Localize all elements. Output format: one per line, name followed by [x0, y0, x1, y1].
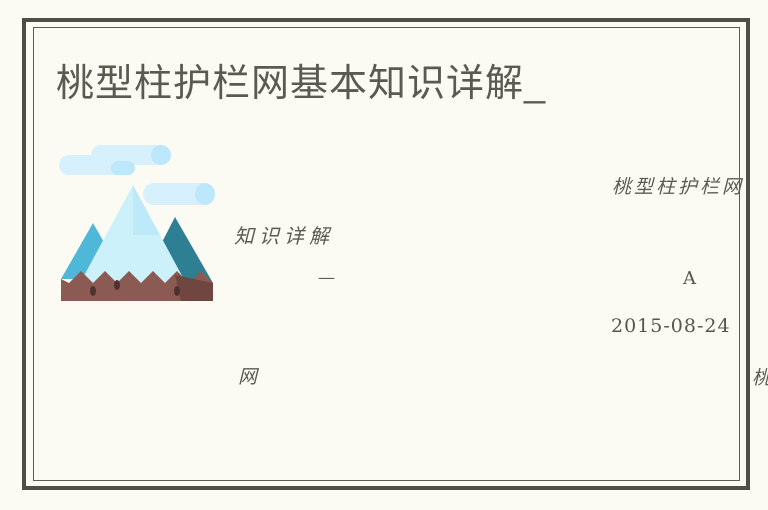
dash-annotation: — — [318, 268, 337, 288]
mountain-landscape-icon — [55, 143, 215, 303]
brand-annotation: 桃型柱护栏网 — [612, 172, 744, 199]
page-title: 桃型柱护栏网基本知识详解_ — [56, 58, 546, 110]
author-label: A — [683, 268, 696, 289]
article-cover-page: 桃型柱护栏网基本知识详解_ 知识详解 — 网 桃型柱护栏网 桃 — [0, 0, 768, 510]
subtitle-annotation: 知识详解 — [234, 220, 334, 249]
brand-tail-annotation: 桃 — [752, 363, 768, 390]
net-mark-annotation: 网 — [238, 362, 257, 389]
date-label: 2015-08-24 — [611, 315, 731, 337]
